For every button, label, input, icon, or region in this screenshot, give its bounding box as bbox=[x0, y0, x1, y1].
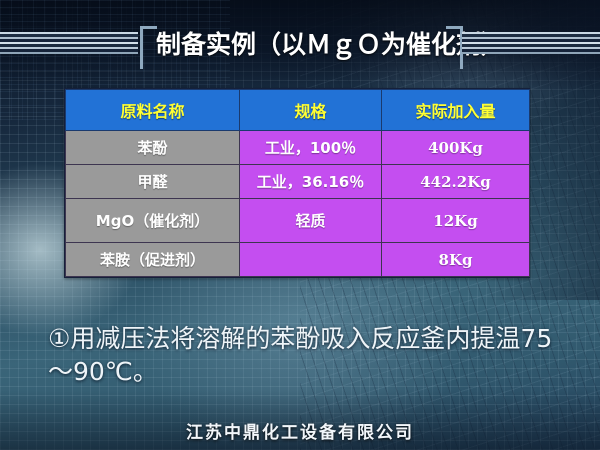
slide-body-text: ①用减压法将溶解的苯酚吸入反应釜内提温75～90℃。 bbox=[48, 322, 558, 388]
column-header-actual-amount: 实际加入量 bbox=[382, 90, 530, 131]
table-row: 苯胺（促进剂） 8Kg bbox=[66, 243, 530, 277]
cell-material-name: 苯酚 bbox=[66, 131, 240, 165]
cell-actual-amount: 8Kg bbox=[382, 243, 530, 277]
column-header-specification: 规格 bbox=[240, 90, 382, 131]
cell-actual-amount: 12Kg bbox=[382, 199, 530, 243]
title-band: 制备实例（以ＭｇＯ为催化剂） bbox=[0, 24, 600, 68]
title-bracket-right bbox=[446, 26, 463, 69]
materials-table-container: 原料名称 规格 实际加入量 苯酚 工业，100％ 400Kg 甲醛 工业，36.… bbox=[64, 88, 530, 278]
title-stripes-right bbox=[462, 30, 600, 60]
slide-footer: 江苏中鼎化工设备有限公司 bbox=[0, 418, 600, 443]
table-row: 苯酚 工业，100％ 400Kg bbox=[66, 131, 530, 165]
cell-actual-amount: 442.2Kg bbox=[382, 165, 530, 199]
cell-material-name: 甲醛 bbox=[66, 165, 240, 199]
cell-material-name: 苯胺（促进剂） bbox=[66, 243, 240, 277]
cell-material-name: MgO（催化剂） bbox=[66, 199, 240, 243]
slide-title: 制备实例（以ＭｇＯ为催化剂） bbox=[156, 24, 448, 68]
title-stripes-left bbox=[0, 30, 138, 60]
cell-specification: 轻质 bbox=[240, 199, 382, 243]
column-header-material-name: 原料名称 bbox=[66, 90, 240, 131]
table-header: 原料名称 规格 实际加入量 bbox=[66, 90, 530, 131]
table-row: 甲醛 工业，36.16％ 442.2Kg bbox=[66, 165, 530, 199]
cell-actual-amount: 400Kg bbox=[382, 131, 530, 165]
cell-specification: 工业，100％ bbox=[240, 131, 382, 165]
table-body: 苯酚 工业，100％ 400Kg 甲醛 工业，36.16％ 442.2Kg Mg… bbox=[66, 131, 530, 277]
table-header-row: 原料名称 规格 实际加入量 bbox=[66, 90, 530, 131]
table-row: MgO（催化剂） 轻质 12Kg bbox=[66, 199, 530, 243]
cell-specification bbox=[240, 243, 382, 277]
title-bracket-left bbox=[140, 26, 157, 69]
cell-specification: 工业，36.16％ bbox=[240, 165, 382, 199]
materials-table: 原料名称 规格 实际加入量 苯酚 工业，100％ 400Kg 甲醛 工业，36.… bbox=[65, 89, 530, 277]
slide-canvas: 制备实例（以ＭｇＯ为催化剂） 原料名称 规格 实际加入量 苯酚 工业，100％ … bbox=[0, 0, 600, 450]
